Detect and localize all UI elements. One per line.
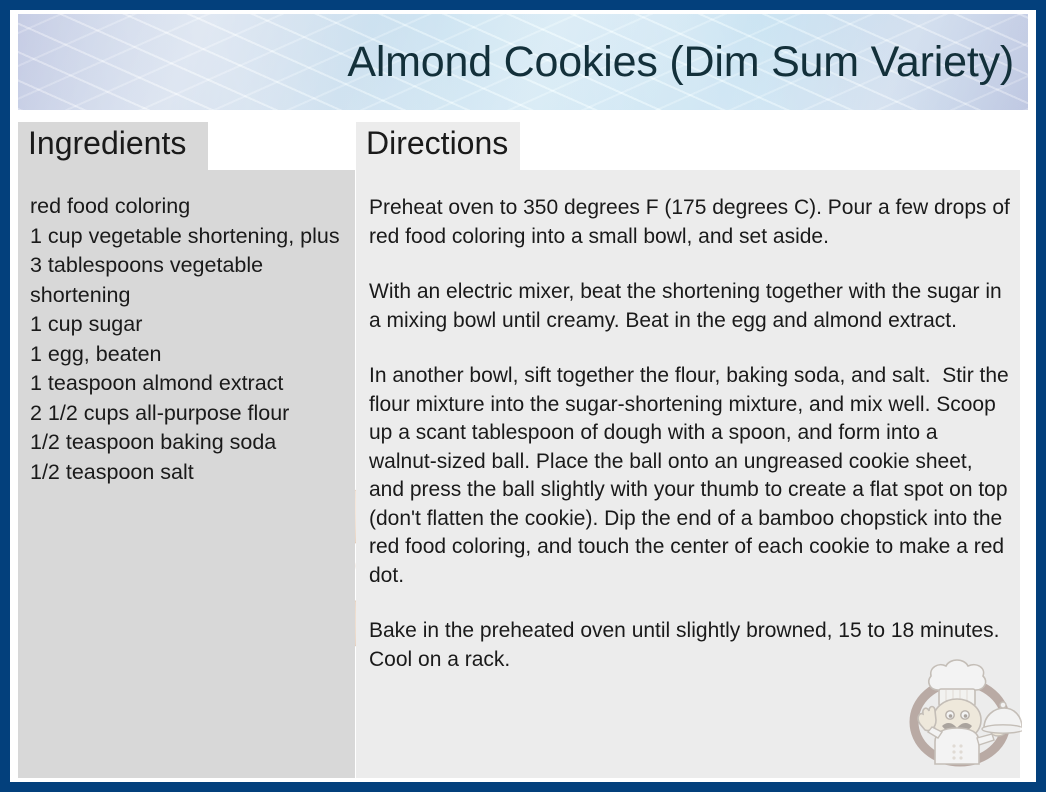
direction-paragraph: Bake in the preheated oven until slightl… — [369, 617, 1010, 674]
direction-paragraph: In another bowl, sift together the flour… — [369, 362, 1010, 590]
directions-heading: Directions — [356, 122, 520, 170]
directions-panel: Preheat oven to 350 degrees F (175 degre… — [356, 170, 1020, 778]
ingredient-item: 1 teaspoon almond extract — [30, 369, 343, 399]
ingredient-item: 1 cup vegetable shortening, plus — [30, 222, 343, 252]
direction-paragraph: With an electric mixer, beat the shorten… — [369, 278, 1010, 335]
page-title: Almond Cookies (Dim Sum Variety) — [347, 38, 1014, 87]
title-banner: Almond Cookies (Dim Sum Variety) — [18, 14, 1028, 110]
recipe-sheet: Almond Cookies (Dim Sum Variety) Ingredi… — [10, 10, 1036, 782]
ingredient-item: 1/2 teaspoon salt — [30, 458, 343, 488]
ingredient-item: 2 1/2 cups all-purpose flour — [30, 399, 343, 429]
direction-paragraph: Preheat oven to 350 degrees F (175 degre… — [369, 194, 1010, 251]
ingredient-item: shortening — [30, 281, 343, 311]
ingredients-heading: Ingredients — [18, 122, 208, 170]
ingredient-item: 1/2 teaspoon baking soda — [30, 428, 343, 458]
ingredient-item: red food coloring — [30, 192, 343, 222]
ingredients-list: red food coloring1 cup vegetable shorten… — [30, 192, 343, 487]
directions-text: Preheat oven to 350 degrees F (175 degre… — [369, 194, 1010, 674]
recipe-card: Almond Cookies (Dim Sum Variety) Ingredi… — [0, 0, 1046, 792]
ingredients-panel: red food coloring1 cup vegetable shorten… — [18, 170, 355, 778]
ingredient-item: 1 cup sugar — [30, 310, 343, 340]
ingredient-item: 3 tablespoons vegetable — [30, 251, 343, 281]
ingredient-item: 1 egg, beaten — [30, 340, 343, 370]
